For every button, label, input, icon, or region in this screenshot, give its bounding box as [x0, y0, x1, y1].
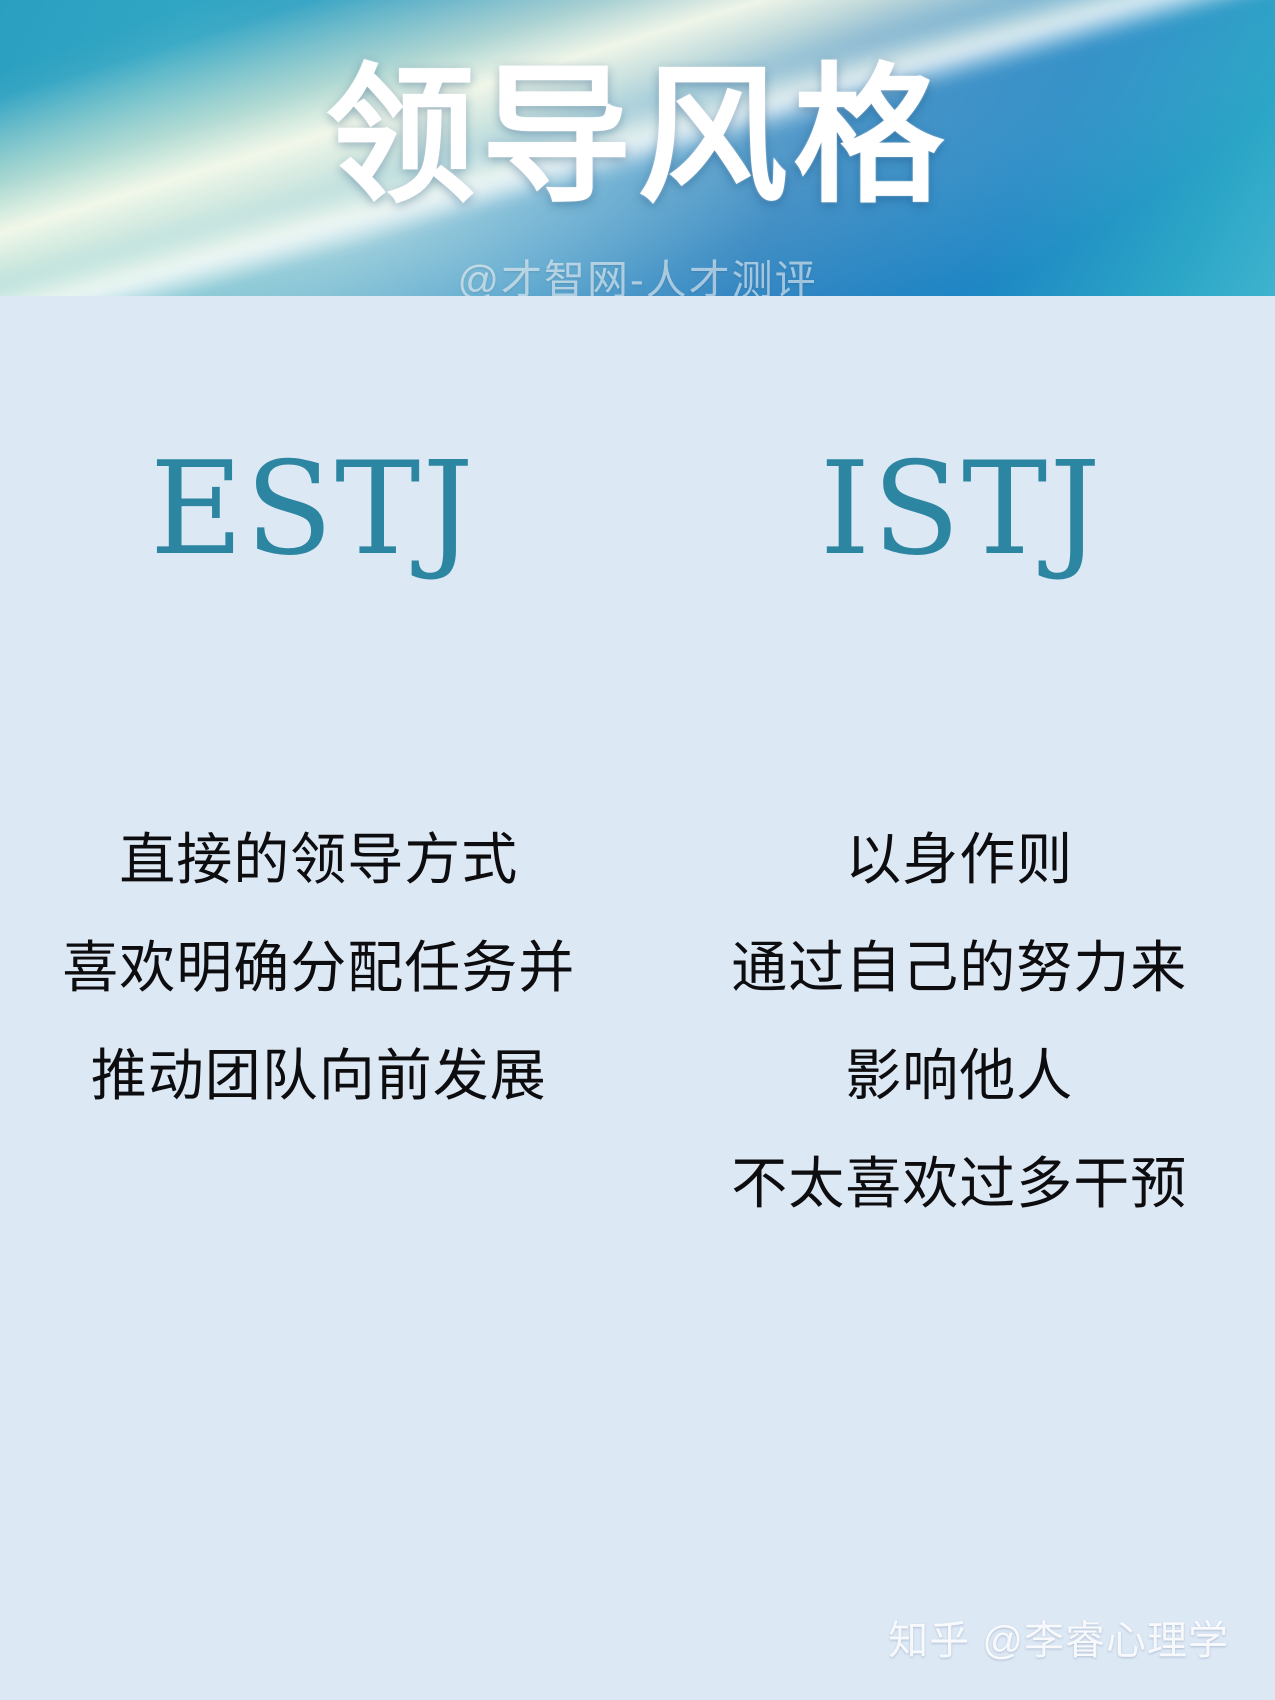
type-heading-istj: ISTJ: [638, 446, 1275, 574]
trait-line: 不太喜欢过多干预: [638, 1130, 1275, 1238]
column-istj: ISTJ 以身作则 通过自己的努力来 影响他人 不太喜欢过多干预: [638, 446, 1275, 1238]
page-title: 领导风格: [0, 58, 1275, 216]
trait-line: 影响他人: [638, 1022, 1275, 1130]
column-estj: ESTJ 直接的领导方式 喜欢明确分配任务并 推动团队向前发展: [0, 446, 638, 1238]
comparison-columns: ESTJ 直接的领导方式 喜欢明确分配任务并 推动团队向前发展 ISTJ 以身作…: [0, 296, 1275, 1238]
trait-line: 直接的领导方式: [0, 806, 638, 914]
trait-line: 通过自己的努力来: [638, 914, 1275, 1022]
trait-line: 以身作则: [638, 806, 1275, 914]
trait-list-estj: 直接的领导方式 喜欢明确分配任务并 推动团队向前发展: [0, 806, 638, 1130]
trait-line: 推动团队向前发展: [0, 1022, 638, 1130]
author-attribution: 知乎 @李睿心理学: [888, 1608, 1229, 1666]
poster-canvas: 领导风格 @才智网-人才测评 ESTJ 直接的领导方式 喜欢明确分配任务并 推动…: [0, 0, 1275, 1700]
trait-line: 喜欢明确分配任务并: [0, 914, 638, 1022]
type-heading-estj: ESTJ: [0, 446, 638, 574]
trait-list-istj: 以身作则 通过自己的努力来 影响他人 不太喜欢过多干预: [638, 806, 1275, 1238]
header-banner: 领导风格 @才智网-人才测评: [0, 0, 1275, 296]
source-watermark: @才智网-人才测评: [0, 246, 1275, 296]
